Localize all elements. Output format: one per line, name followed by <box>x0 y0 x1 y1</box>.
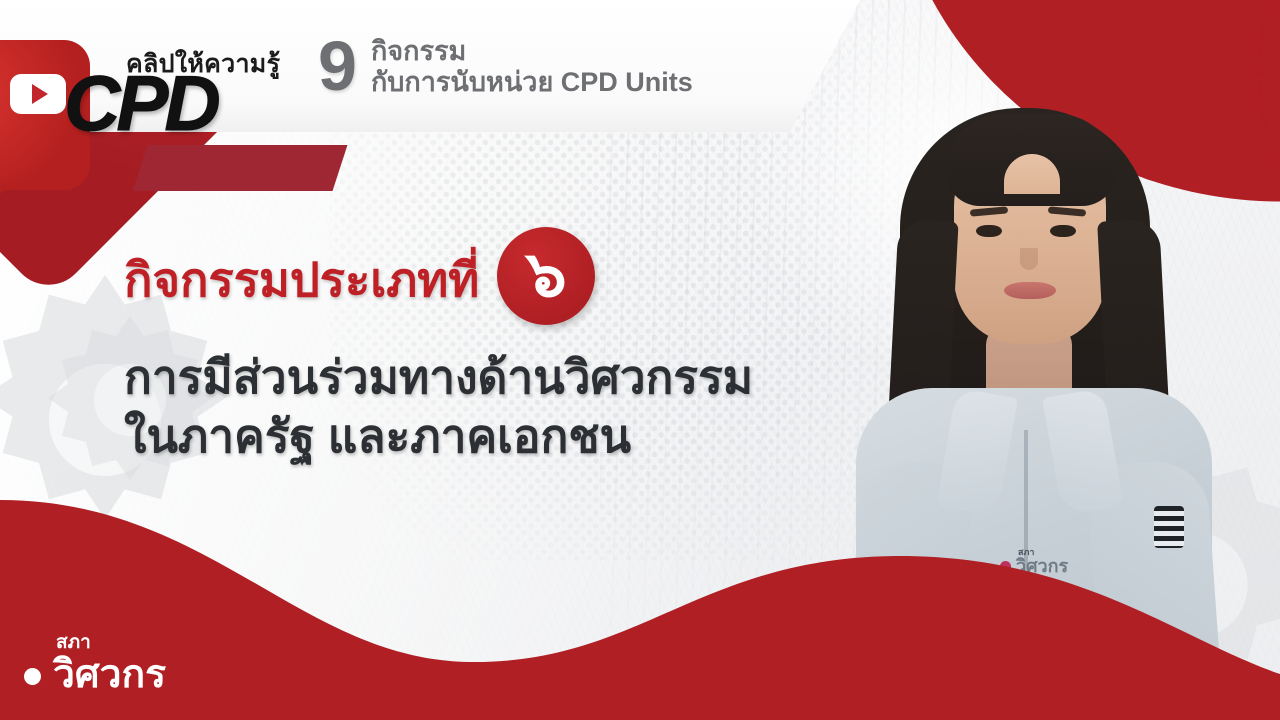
council-logo-main: วิศวกร <box>53 655 166 694</box>
slide-canvas: สภา วิศวกร คลิปให้ความรู้ CPD 9 กิจกรรม … <box>0 0 1280 720</box>
category-number: ๖ <box>526 242 567 306</box>
presenter-eye-right <box>1050 225 1076 237</box>
header-line-1: กิจกรรม <box>371 36 693 66</box>
presenter-nose <box>1020 248 1038 270</box>
cpd-logo[interactable]: คลิปให้ความรู้ CPD <box>8 22 308 130</box>
logo-wordmark: CPD <box>64 64 217 142</box>
bullet-dot-icon <box>24 668 41 685</box>
page-title: การมีส่วนร่วมทางด้านวิศวกรรม ในภาครัฐ แล… <box>124 348 844 466</box>
page-title-line-1: การมีส่วนร่วมทางด้านวิศวกรรม <box>124 348 844 407</box>
presenter-mouth <box>1004 282 1056 299</box>
council-logo-top: สภา <box>56 633 166 652</box>
red-wave-shape-bottom <box>0 460 1280 720</box>
page-title-line-2: ในภาครัฐ และภาคเอกชน <box>124 407 844 466</box>
presenter-eye-left <box>976 225 1002 237</box>
category-heading: กิจกรรมประเภทที่ ๖ <box>124 233 595 325</box>
accent-parallelogram <box>133 145 348 191</box>
header-line-2: กับการนับหน่วย CPD Units <box>371 67 693 97</box>
play-triangle-icon <box>32 84 48 104</box>
category-label: กิจกรรมประเภทที่ <box>124 256 479 303</box>
presenter-hair-front <box>946 114 1116 206</box>
youtube-play-icon[interactable] <box>10 74 66 114</box>
council-logo: สภา วิศวกร <box>24 633 166 694</box>
category-number-badge: ๖ <box>497 227 595 325</box>
header-activity-count: 9 กิจกรรม กับการนับหน่วย CPD Units <box>318 34 693 100</box>
header-number: 9 <box>318 34 357 100</box>
